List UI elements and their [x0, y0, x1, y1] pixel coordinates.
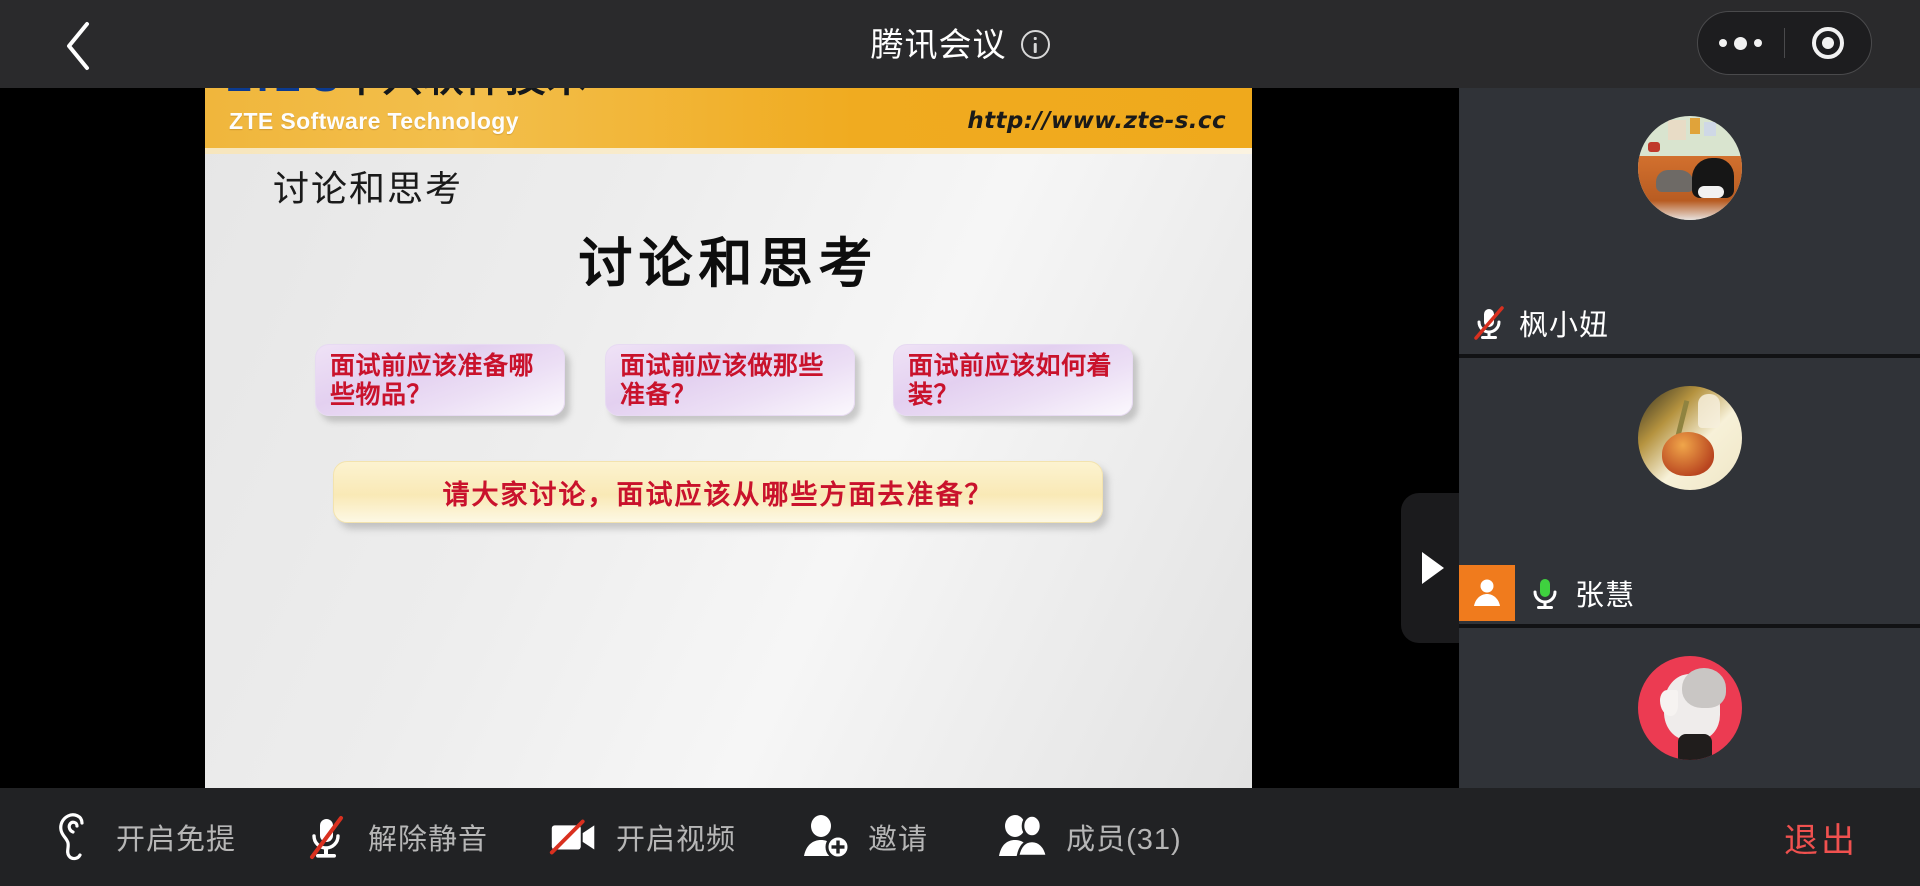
- zte-website-url: http://www.zte-s.cc: [967, 108, 1226, 134]
- more-dots-icon[interactable]: [1698, 12, 1784, 74]
- meeting-screen: 腾讯会议 ZTE-S中兴软件技术 ZTE Software Technology…: [0, 0, 1920, 886]
- participant-footer: 张慧: [1459, 562, 1920, 624]
- discussion-prompt-box: 请大家讨论，面试应该从哪些方面去准备？: [333, 461, 1103, 523]
- band-baseline: [205, 148, 1252, 154]
- mic-muted-icon: [298, 809, 354, 865]
- question-box: 面试前应该如何着装？: [893, 344, 1133, 416]
- wechat-capsule: [1697, 11, 1872, 75]
- nav-bar: 腾讯会议: [0, 0, 1920, 88]
- invite-button[interactable]: 邀请: [798, 788, 928, 886]
- zte-logo-mark: ZTE-S: [227, 88, 338, 100]
- avatar-cats-photo: [1638, 116, 1742, 220]
- question-box-text: 面试前应该做那些准备？: [606, 351, 854, 410]
- unmute-button[interactable]: 解除静音: [298, 788, 488, 886]
- slide-main-title: 讨论和思考: [205, 236, 1252, 290]
- mic-muted-icon: [1459, 302, 1519, 344]
- question-box: 面试前应该准备哪些物品？: [315, 344, 565, 416]
- speaker-toggle-button[interactable]: 开启免提: [46, 788, 236, 886]
- page-title: 腾讯会议: [871, 28, 1007, 61]
- question-box-text: 面试前应该如何着装？: [894, 351, 1132, 410]
- toolbar-item-label: 邀请: [868, 816, 928, 858]
- meeting-toolbar: 开启免提 解除静音 开启视频: [0, 788, 1920, 886]
- info-circle-icon[interactable]: [1021, 30, 1050, 59]
- toolbar-item-label: 解除静音: [368, 816, 488, 858]
- participants-rail[interactable]: 枫小妞: [1459, 88, 1920, 788]
- participant-tile[interactable]: 张慧: [1459, 358, 1920, 624]
- video-toggle-button[interactable]: 开启视频: [546, 788, 736, 886]
- avatar-statue-photo: [1638, 656, 1742, 760]
- participant-name: 枫小妞: [1519, 302, 1609, 344]
- question-box-text: 面试前应该准备哪些物品？: [316, 351, 564, 410]
- speaker-ear-icon: [46, 809, 102, 865]
- mic-active-icon: [1515, 572, 1575, 614]
- members-button[interactable]: 成员(31): [996, 788, 1182, 886]
- zte-logo-subtitle: ZTE Software Technology: [229, 110, 519, 133]
- target-circle-icon[interactable]: [1785, 12, 1871, 74]
- play-triangle-icon: [1422, 552, 1444, 584]
- nav-title-group: 腾讯会议: [0, 0, 1920, 88]
- participant-tile[interactable]: 枫小妞: [1459, 88, 1920, 354]
- leave-meeting-button[interactable]: 退出: [1784, 813, 1858, 862]
- slide-header-band: ZTE-S中兴软件技术 ZTE Software Technology http…: [205, 88, 1252, 154]
- camera-off-icon: [546, 809, 602, 865]
- discussion-prompt-text: 请大家讨论，面试应该从哪些方面去准备？: [443, 473, 994, 512]
- collapse-participants-button[interactable]: [1401, 493, 1459, 643]
- participant-footer: 枫小妞: [1459, 292, 1920, 354]
- person-add-icon: [798, 809, 854, 865]
- toolbar-item-label: 开启免提: [116, 816, 236, 858]
- shared-screen-stage[interactable]: ZTE-S中兴软件技术 ZTE Software Technology http…: [0, 88, 1459, 788]
- zte-logo: ZTE-S中兴软件技术: [227, 88, 588, 98]
- zte-logo-cn: 中兴软件技术: [342, 88, 588, 100]
- slide-heading: 讨论和思考: [273, 172, 463, 208]
- participant-name: 张慧: [1575, 572, 1635, 614]
- people-group-icon: [996, 809, 1052, 865]
- host-person-icon: [1459, 565, 1515, 621]
- avatar-flower-photo: [1638, 386, 1742, 490]
- question-box: 面试前应该做那些准备？: [605, 344, 855, 416]
- participant-tile[interactable]: [1459, 628, 1920, 788]
- presentation-slide: ZTE-S中兴软件技术 ZTE Software Technology http…: [205, 88, 1252, 788]
- toolbar-item-label: 开启视频: [616, 816, 736, 858]
- toolbar-item-label: 成员(31): [1066, 816, 1182, 858]
